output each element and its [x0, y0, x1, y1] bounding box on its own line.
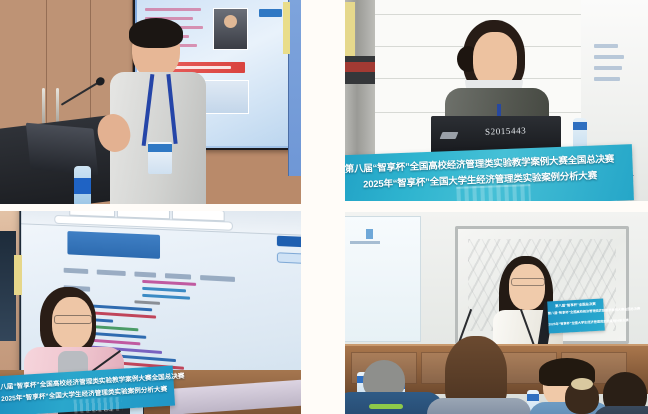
placard-line-2: 2025年“智享杯”全国大学生经济管理类实验案例分析大赛 [548, 319, 604, 327]
event-placard: 第八届“智享杯”全国总决赛 第八届“智享杯”全国高校经济管理类实验教学案例大赛全… [547, 299, 605, 334]
notebook-header-banner [67, 231, 160, 259]
name-badge [148, 142, 172, 174]
pillar-red-band [345, 62, 375, 72]
event-banner: 第八届“智享杯”全国高校经济管理类实验教学案例大赛全国总决赛 2025年“智享杯… [345, 144, 634, 201]
photo-collage: S2015443 第八届“智享杯”全国高校经济管理类实验教学案例大赛全国总决赛 … [0, 0, 648, 414]
browser-toolbar [21, 211, 301, 236]
screen-button [277, 252, 301, 264]
photo-top-left [0, 0, 301, 204]
door-handle [42, 88, 45, 124]
presenter-person [112, 22, 202, 204]
laptop-label: S2015443 [485, 125, 527, 136]
door-handle [56, 88, 59, 124]
banner-building-graphic [74, 397, 123, 414]
water-bottle [74, 166, 91, 204]
projection-screen [345, 216, 421, 342]
photo-bottom-right: 第八届“智享杯”全国总决赛 第八届“智享杯”全国高校经济管理类实验教学案例大赛全… [345, 212, 648, 414]
audience-member [427, 336, 531, 414]
photo-bottom-left: S2015443 第八届“智享杯”全国高校经济管理类实验教学案例大赛全国总决赛 … [0, 211, 301, 414]
slide-portrait [213, 8, 248, 50]
pillar-sign [345, 2, 355, 56]
side-display-panel [288, 0, 301, 176]
banner-building-graphic [456, 184, 531, 201]
projected-text [594, 44, 644, 88]
placard-line-1: 第八届“智享杯”全国高校经济管理类实验教学案例大赛全国总决赛 [548, 308, 604, 316]
audience-member [595, 372, 648, 414]
eyeglasses [511, 278, 545, 286]
side-sign [14, 255, 22, 295]
screen-badge [277, 236, 301, 248]
photo-top-right: S2015443 第八届“智享杯”全国高校经济管理类实验教学案例大赛全国总决赛 … [345, 0, 648, 201]
eyeglasses [54, 315, 92, 324]
notebook-tab-row [64, 260, 262, 278]
slide-badge [259, 9, 282, 17]
audience-member [561, 380, 601, 414]
laptop-logo [440, 132, 459, 139]
